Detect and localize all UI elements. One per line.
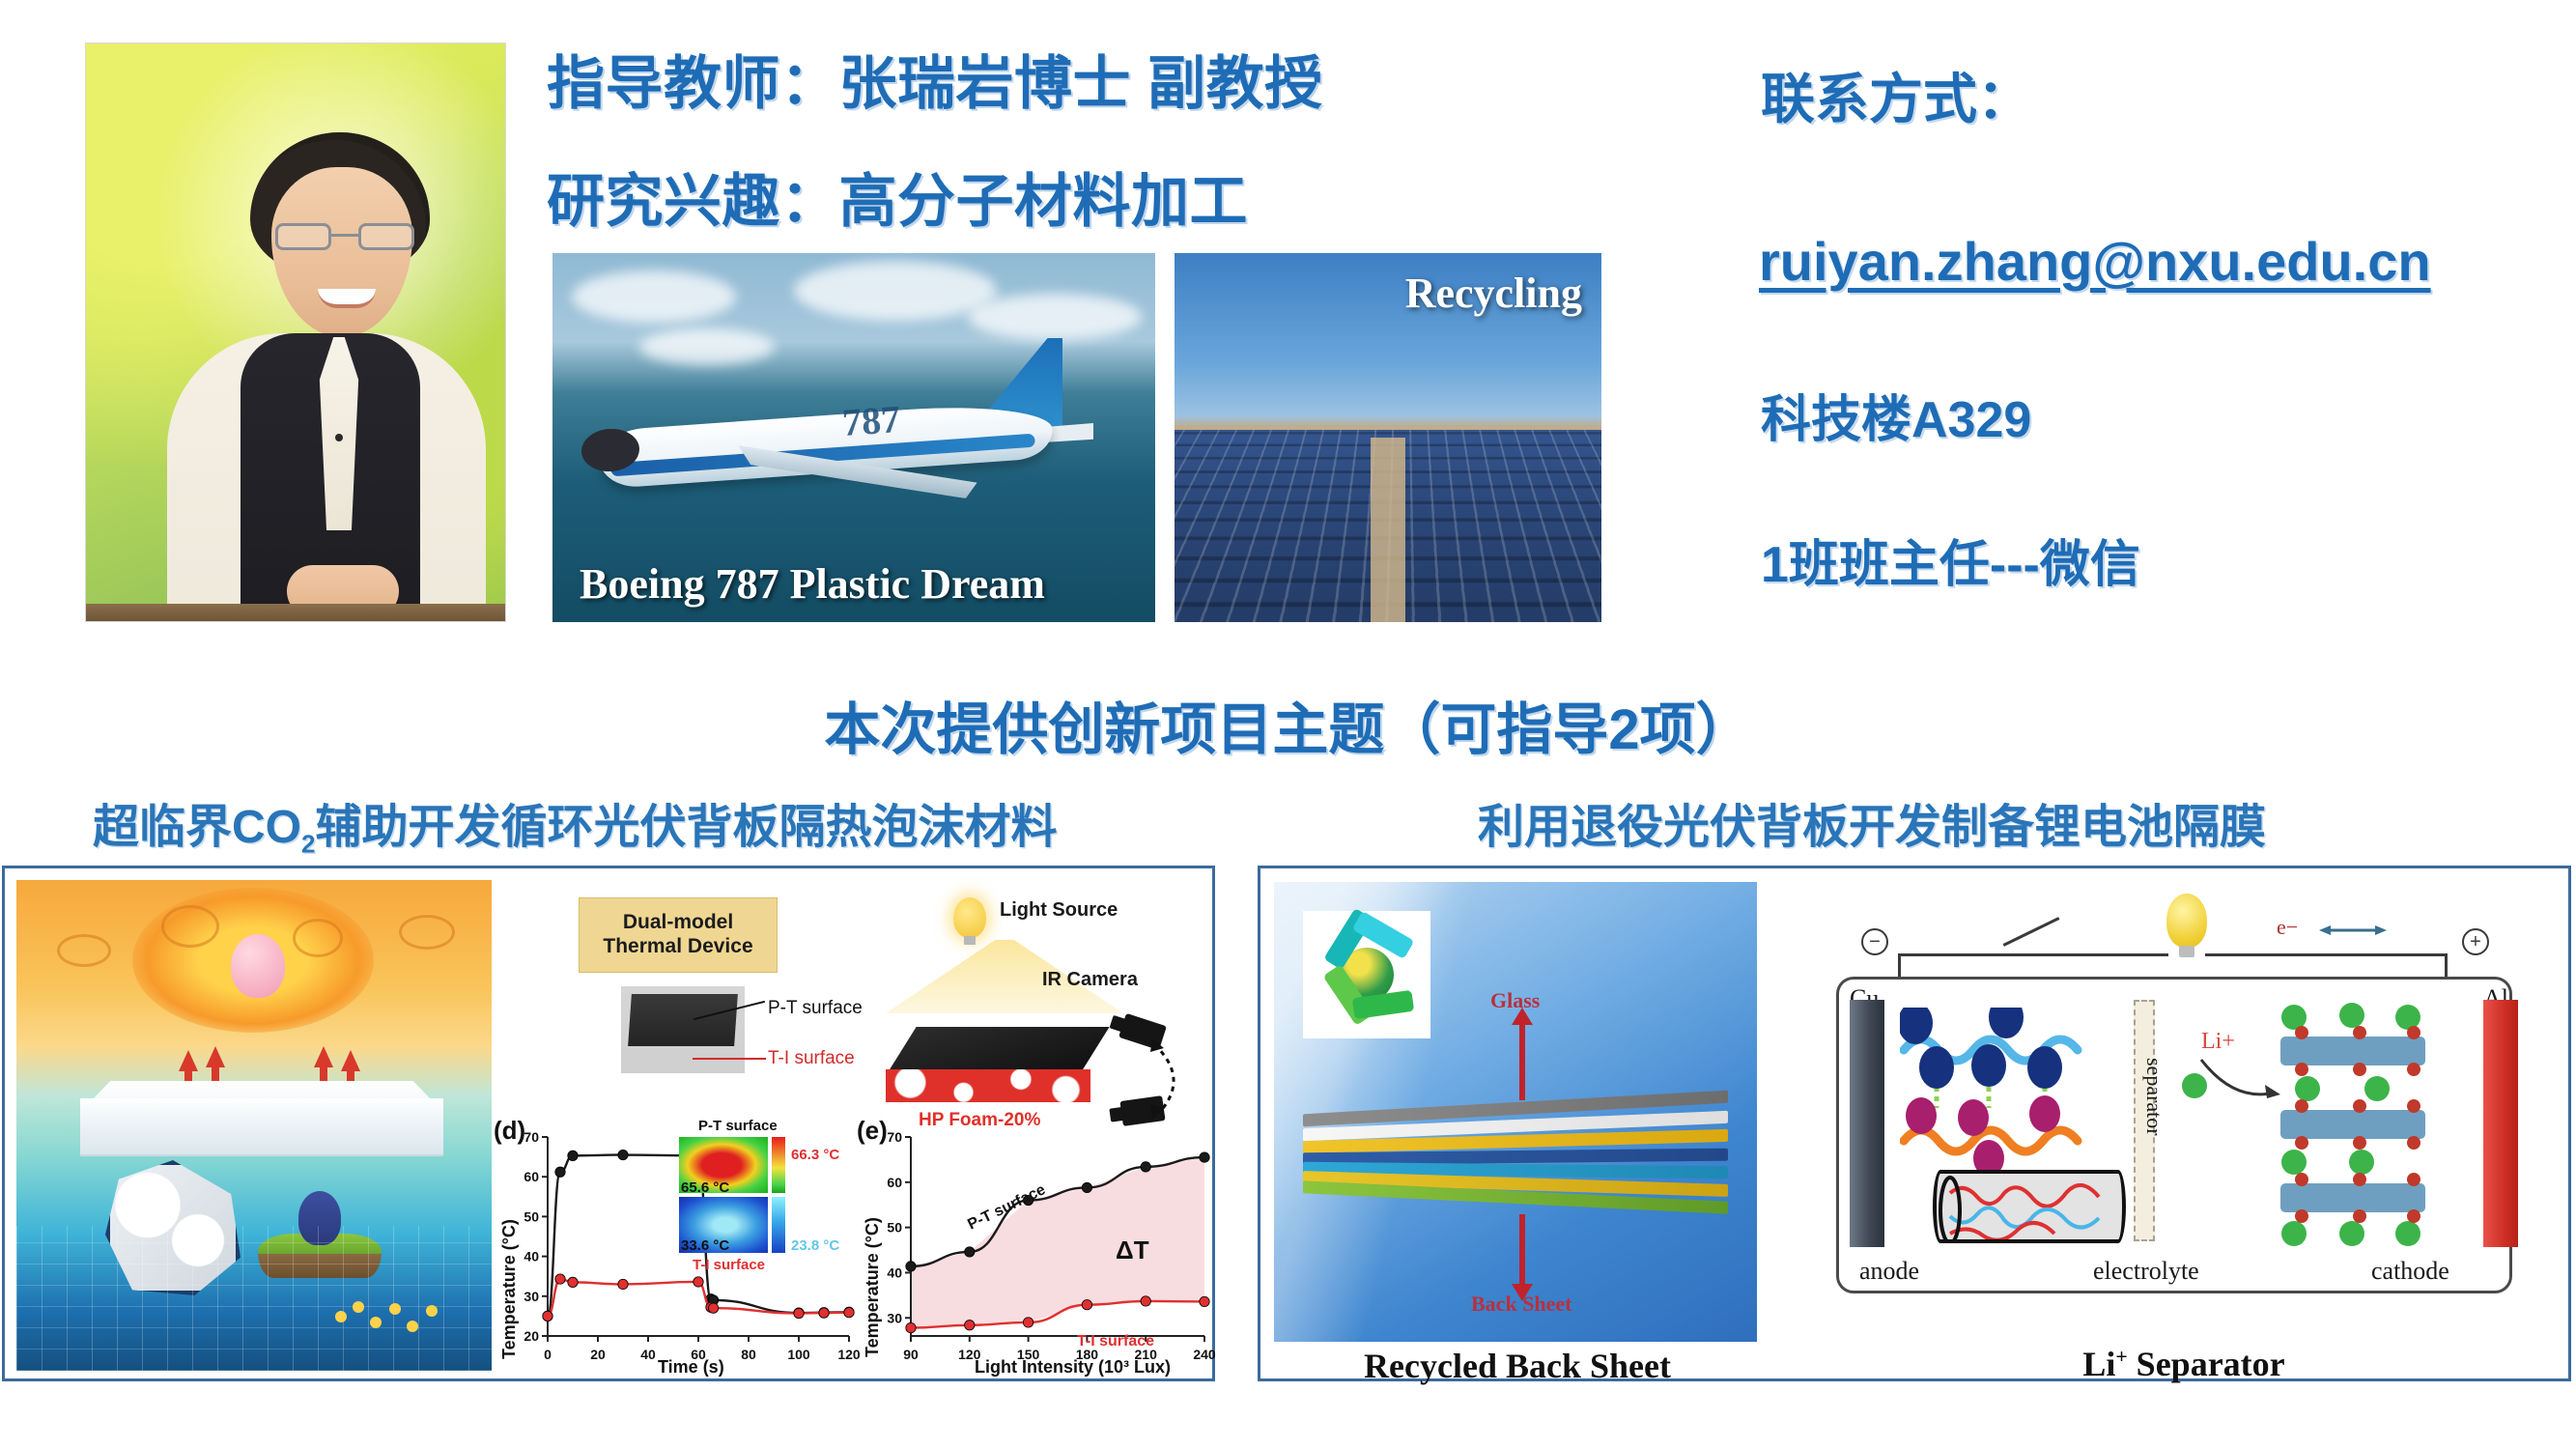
svg-text:70: 70 (524, 1129, 539, 1145)
molecule-dot (407, 1321, 418, 1332)
fiber-membrane-tube (1933, 1170, 2126, 1243)
ir-hot-colorbar (772, 1137, 785, 1193)
glass-label: Glass (1490, 988, 1540, 1013)
dual-model-thermal-device-badge: Dual-model Thermal Device (579, 897, 778, 973)
project-1-figure-panel: Dual-model Thermal Device P-T surface T-… (2, 866, 1215, 1381)
svg-text:0: 0 (544, 1347, 552, 1362)
project-1-subtitle: 超临界CO2辅助开发循环光伏背板隔热泡沫材料 (93, 788, 1058, 860)
project-2-subtitle: 利用退役光伏背板开发制备锂电池隔膜 (1478, 788, 2266, 856)
co2-subscript: 2 (301, 830, 315, 859)
svg-text:T-I surface: T-I surface (1077, 1333, 1154, 1350)
svg-text:ΔT: ΔT (1116, 1236, 1149, 1264)
cathode-crystal-lattice (2269, 1002, 2443, 1249)
badge-line-2: Thermal Device (603, 935, 752, 959)
portrait-face (271, 167, 412, 337)
copper-current-collector (1850, 1000, 1884, 1247)
svg-text:60: 60 (524, 1169, 539, 1184)
cloud-shape (794, 261, 997, 321)
foam-sample-photo (621, 986, 745, 1073)
contact-office: 科技楼A329 (1761, 379, 2031, 451)
project-1-subtitle-post: 辅助开发循环光伏背板隔热泡沫材料 (315, 802, 1057, 853)
svg-text:30: 30 (887, 1310, 902, 1325)
cloud-swirl-icon (399, 915, 455, 950)
contact-title: 联系方式： (1761, 56, 2031, 134)
ti-surface-label-device: T-I surface (768, 1048, 855, 1069)
foam-block-side (886, 1069, 1090, 1102)
glasses-icon (275, 223, 414, 252)
cloud-shape (968, 294, 1142, 340)
chart-e-plot: 304050607090120150180210240P-T surfaceT-… (857, 1116, 1220, 1378)
circuit-wire-left (1898, 953, 2168, 956)
foam-block-top (886, 1027, 1109, 1075)
svg-text:20: 20 (590, 1347, 606, 1362)
svg-text:70: 70 (887, 1129, 902, 1145)
solar-farm-photo: Recycling (1175, 253, 1601, 622)
molecule-dot (335, 1311, 347, 1322)
ir-camera-label: IR Camera (1042, 969, 1138, 991)
contact-email-link[interactable]: ruiyan.zhang@nxu.edu.cn (1759, 230, 2431, 293)
anode-label: anode (1859, 1257, 1919, 1286)
pt-surface-label-device: P-T surface (768, 998, 863, 1019)
molecule-dot (353, 1301, 364, 1313)
svg-text:40: 40 (887, 1264, 902, 1280)
svg-text:80: 80 (741, 1347, 756, 1362)
svg-text:150: 150 (1017, 1347, 1040, 1362)
recycling-logo-icon (1303, 911, 1430, 1038)
svg-text:90: 90 (903, 1347, 919, 1362)
backsheet-direction-arrow (1519, 1214, 1525, 1286)
solar-caption: Recycling (1405, 269, 1582, 318)
boeing-caption: Boeing 787 Plastic Dream (580, 559, 1045, 609)
svg-text:20: 20 (524, 1328, 539, 1344)
cloud-swirl-icon (293, 919, 343, 957)
heat-arrow-icon (179, 1050, 198, 1071)
advisor-line: 指导教师：张瑞岩博士 副教授 (547, 37, 1323, 121)
svg-text:50: 50 (524, 1208, 539, 1224)
li-ion-label: Li+ (2201, 1029, 2235, 1055)
ir-bottom-scale-min: 23.8 °C (791, 1237, 839, 1254)
svg-text:60: 60 (691, 1347, 706, 1362)
electron-label: e− (2277, 915, 2298, 940)
cloud-swirl-icon (161, 905, 219, 948)
ir-bottom-caption: T-I surface (693, 1257, 765, 1273)
molecule-dot (370, 1317, 382, 1328)
balloon-shape (231, 934, 285, 998)
chart-e-container: (e) Temperature (°C) Light Intensity (10… (857, 1116, 1220, 1378)
chart-d-container: (d) Temperature (°C) Time (s) 2030405060… (494, 1116, 861, 1378)
boeing-787-photo: 787 Boeing 787 Plastic Dream (552, 253, 1155, 622)
lithium-battery-schematic: − + e− Cu Al separator (1807, 884, 2561, 1338)
svg-text:240: 240 (1193, 1347, 1216, 1362)
ir-top-value: 65.6 °C (681, 1179, 729, 1196)
solar-access-road (1371, 438, 1404, 622)
cloud-swirl-icon (57, 934, 111, 967)
light-source-label: Light Source (1000, 899, 1118, 922)
project-2-figure-panel: Glass Back Sheet Recycled Back Sheet − +… (1258, 866, 2571, 1381)
foam-slab (80, 1098, 443, 1154)
heat-arrow-icon (341, 1050, 360, 1071)
svg-text:50: 50 (887, 1220, 902, 1236)
caption-sup: + (2115, 1345, 2127, 1368)
caption-post: Separator (2128, 1345, 2285, 1383)
electrolyte-label: electrolyte (2093, 1257, 2199, 1286)
svg-text:60: 60 (887, 1175, 902, 1190)
slide-root: 指导教师：张瑞岩博士 副教授 研究兴趣：高分子材料加工 联系方式： ruiyan… (0, 0, 2576, 1449)
cloud-shape (572, 270, 736, 323)
ir-top-scale-max: 66.3 °C (791, 1147, 839, 1163)
portrait-rail (86, 604, 505, 621)
molecule-dot (426, 1305, 438, 1317)
eco-artwork-illustration (16, 880, 492, 1371)
ir-cold-colorbar (772, 1197, 785, 1253)
project-1-subtitle-pre: 超临界CO (93, 802, 301, 853)
polymer-chain-graphic (1900, 1008, 2122, 1172)
recycled-back-sheet-caption: Recycled Back Sheet (1278, 1346, 1757, 1386)
negative-terminal-icon: − (1861, 928, 1888, 955)
svg-text:120: 120 (958, 1347, 981, 1362)
aluminum-current-collector (2483, 1000, 2518, 1247)
camera-rotation-arrow-icon (1148, 1037, 1193, 1122)
glass-direction-arrow (1519, 1023, 1525, 1100)
light-bulb-icon (953, 897, 986, 938)
svg-text:40: 40 (640, 1347, 656, 1362)
svg-text:40: 40 (524, 1249, 539, 1264)
contact-role: 1班班主任---微信 (1761, 524, 2140, 596)
pv-backsheet-illustration: Glass Back Sheet (1274, 882, 1757, 1342)
electron-flow-arrow-icon (2319, 921, 2387, 940)
research-interest-line: 研究兴趣：高分子材料加工 (547, 155, 1248, 239)
caption-pre: Li (2082, 1345, 2115, 1383)
ir-thermal-inset: P-T surface 66.3 °C 65.6 °C 23.8 °C 33.6… (679, 1137, 834, 1272)
separator-label: separator (2141, 1058, 2166, 1136)
light-bulb-icon (2166, 894, 2207, 948)
ir-bottom-value: 33.6 °C (681, 1237, 729, 1254)
page-title: 本次提供创新项目主题（可指导2项） (0, 684, 2576, 765)
positive-terminal-icon: + (2462, 928, 2489, 955)
cathode-label: cathode (2371, 1257, 2449, 1286)
cloud-shape (639, 328, 775, 365)
circuit-switch-icon (2003, 917, 2060, 947)
svg-text:100: 100 (787, 1347, 810, 1362)
portrait-button (335, 434, 343, 441)
badge-line-1: Dual-model (623, 911, 733, 935)
heat-arrow-icon (206, 1046, 225, 1067)
li-separator-caption: Li+ Separator (1807, 1344, 2561, 1384)
svg-text:30: 30 (524, 1289, 539, 1304)
ti-surface-pointer (693, 1058, 766, 1060)
airplane-model-number: 787 (840, 396, 901, 445)
circuit-wire-right (2205, 953, 2447, 956)
back-sheet-label: Back Sheet (1471, 1292, 1572, 1317)
ir-top-caption: P-T surface (698, 1118, 778, 1134)
heat-arrow-icon (314, 1046, 333, 1067)
advisor-portrait-photo (85, 43, 506, 622)
molecule-dot (389, 1303, 401, 1315)
globe-grid-overlay (16, 1226, 492, 1371)
